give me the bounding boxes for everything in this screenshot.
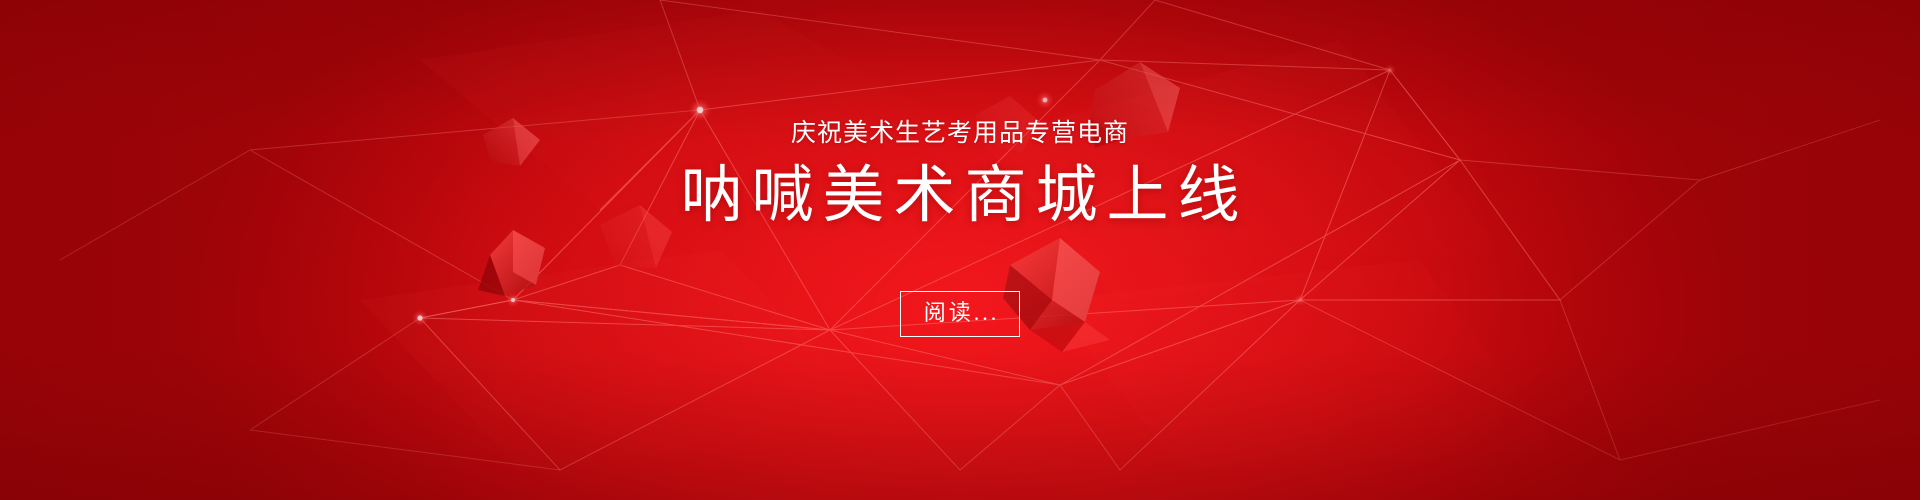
hero-banner: 庆祝美术生艺考用品专营电商 呐喊美术商城上线 阅读... <box>0 0 1920 500</box>
read-more-button[interactable]: 阅读... <box>900 291 1021 337</box>
hero-title: 呐喊美术商城上线 <box>671 163 1248 230</box>
hero-content: 庆祝美术生艺考用品专营电商 呐喊美术商城上线 阅读... <box>0 0 1920 500</box>
hero-subtitle: 庆祝美术生艺考用品专营电商 <box>791 118 1129 148</box>
